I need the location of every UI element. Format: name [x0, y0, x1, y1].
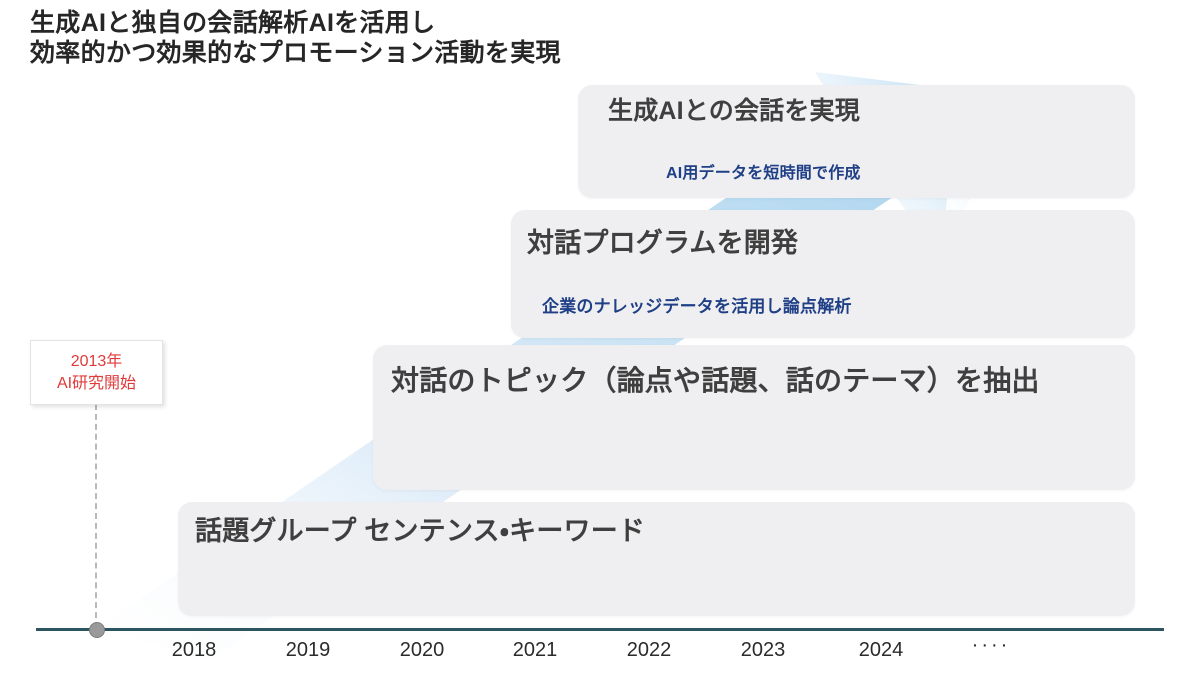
stage-card-topic-extraction[interactable]: 対話のトピック（論点や話題、話のテーマ）を抽出 [373, 345, 1135, 490]
stage-card-title: 対話プログラムを開発 [527, 221, 798, 260]
stage-card-title: 生成AIとの会話を実現 [608, 91, 860, 127]
axis-tick-2019: 2019 [265, 639, 351, 662]
axis-tick-2020: 2020 [379, 639, 465, 662]
milestone-callout[interactable]: 2013年 AI研究開始 [30, 340, 163, 405]
stage-card-title: 対話のトピック（論点や話題、話のテーマ）を抽出 [391, 359, 1040, 399]
axis-tick-2021: 2021 [492, 639, 578, 662]
timeline-origin-marker [89, 622, 105, 638]
axis-tick-2024: 2024 [838, 639, 924, 662]
stage-card-title: 話題グループ センテンス・キーワード [195, 509, 645, 548]
milestone-event: AI研究開始 [57, 373, 136, 395]
page-title-line-1: 生成AIと独自の会話解析AIを活用し [30, 8, 850, 38]
stage-card-topic-group[interactable]: 話題グループ センテンス・キーワード [178, 502, 1135, 616]
axis-tick-2018: 2018 [151, 639, 237, 662]
milestone-connector-line [95, 404, 97, 628]
axis-tick-2022: 2022 [606, 639, 692, 662]
milestone-year: 2013年 [71, 351, 123, 373]
stage-card-subtitle: AI用データを短時間で作成 [666, 159, 861, 183]
slide-canvas: 生成AIと独自の会話解析AIを活用し 効率的かつ効果的なプロモーション活動を実現… [0, 0, 1200, 676]
axis-ellipsis: ···· [948, 634, 1034, 657]
page-title: 生成AIと独自の会話解析AIを活用し 効率的かつ効果的なプロモーション活動を実現 [30, 8, 850, 68]
stage-card-generative-ai[interactable]: 生成AIとの会話を実現 AI用データを短時間で作成 [578, 85, 1135, 198]
stage-card-dialogue-program[interactable]: 対話プログラムを開発 企業のナレッジデータを活用し論点解析 [511, 210, 1135, 338]
stage-card-subtitle: 企業のナレッジデータを活用し論点解析 [542, 292, 852, 317]
page-title-line-2: 効率的かつ効果的なプロモーション活動を実現 [30, 38, 850, 68]
timeline-axis [36, 628, 1164, 631]
axis-tick-2023: 2023 [720, 639, 806, 662]
